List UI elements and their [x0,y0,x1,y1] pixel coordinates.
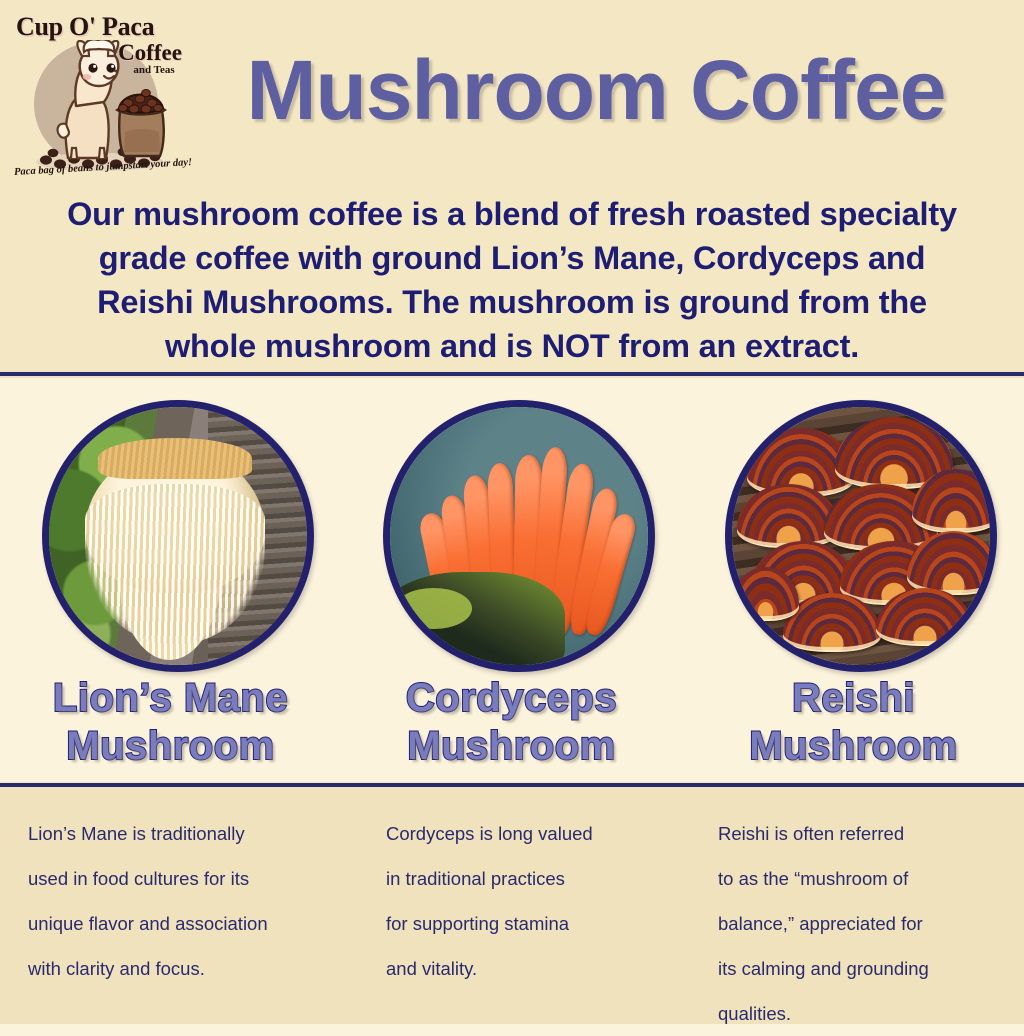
section-divider-top [0,371,1024,378]
desc-line: used in food cultures for its [28,856,328,901]
intro-line: grade coffee with ground Lion’s Mane, Co… [14,236,1010,280]
intro-line: Reishi Mushrooms. The mushroom is ground… [14,280,1010,324]
logo-coffee-word: Coffee [104,40,196,66]
reishi-photo[interactable] [725,400,997,672]
lions-mane-description: Lion’s Mane is traditionally used in foo… [28,811,328,991]
lions-mane-photo[interactable] [42,400,314,672]
mushroom-card-lions-mane[interactable]: Lion’s Mane Mushroom [0,378,341,782]
desc-line: to as the “mushroom of [718,856,1008,901]
cordyceps-description: Cordyceps is long valued in traditional … [386,811,676,991]
desc-line: for supporting stamina [386,901,676,946]
lions-mane-label: Lion’s Mane Mushroom [0,674,341,770]
desc-line: unique flavor and association [28,901,328,946]
intro-line: whole mushroom and is NOT from an extrac… [14,324,1010,368]
cordyceps-photo[interactable] [383,400,655,672]
mushroom-card-reishi[interactable]: Reishi Mushroom [683,378,1024,782]
desc-line: balance,” appreciated for [718,901,1008,946]
cordyceps-label: Cordyceps Mushroom [341,674,682,770]
reishi-label: Reishi Mushroom [683,674,1024,770]
logo-brand-name: Cup O' Paca [16,12,192,42]
description-band: Lion’s Mane is traditionally used in foo… [0,789,1024,1024]
section-divider-bottom [0,782,1024,789]
logo-teas-word: and Teas [112,64,196,76]
label-line-2: Mushroom [0,722,341,770]
label-line-2: Mushroom [341,722,682,770]
label-line-1: Reishi [683,674,1024,722]
desc-line: Cordyceps is long valued [386,811,676,856]
desc-line: in traditional practices [386,856,676,901]
label-line-2: Mushroom [683,722,1024,770]
label-line-1: Cordyceps [341,674,682,722]
desc-line: Reishi is often referred [718,811,1008,856]
mushroom-card-cordyceps[interactable]: Cordyceps Mushroom [341,378,682,782]
cordyceps-image [390,407,648,665]
intro-paragraph: Our mushroom coffee is a blend of fresh … [14,192,1010,368]
label-line-1: Lion’s Mane [0,674,341,722]
lions-mane-image [49,407,307,665]
desc-line: its calming and grounding [718,946,1008,991]
page-title: Mushroom Coffee [196,40,996,140]
reishi-image [732,407,990,665]
desc-line: qualities. [718,991,1008,1036]
desc-line: with clarity and focus. [28,946,328,991]
infographic-poster: Cup O' Paca Coffee and Teas Paca bag of … [0,0,1024,1024]
brand-logo[interactable]: Cup O' Paca Coffee and Teas Paca bag of … [8,4,194,180]
desc-line: Lion’s Mane is traditionally [28,811,328,856]
mushroom-gallery-band: Lion’s Mane Mushroom Cordyceps Mushroom [0,378,1024,782]
intro-line: Our mushroom coffee is a blend of fresh … [14,192,1010,236]
desc-line: and vitality. [386,946,676,991]
reishi-description: Reishi is often referred to as the “mush… [718,811,1008,1036]
